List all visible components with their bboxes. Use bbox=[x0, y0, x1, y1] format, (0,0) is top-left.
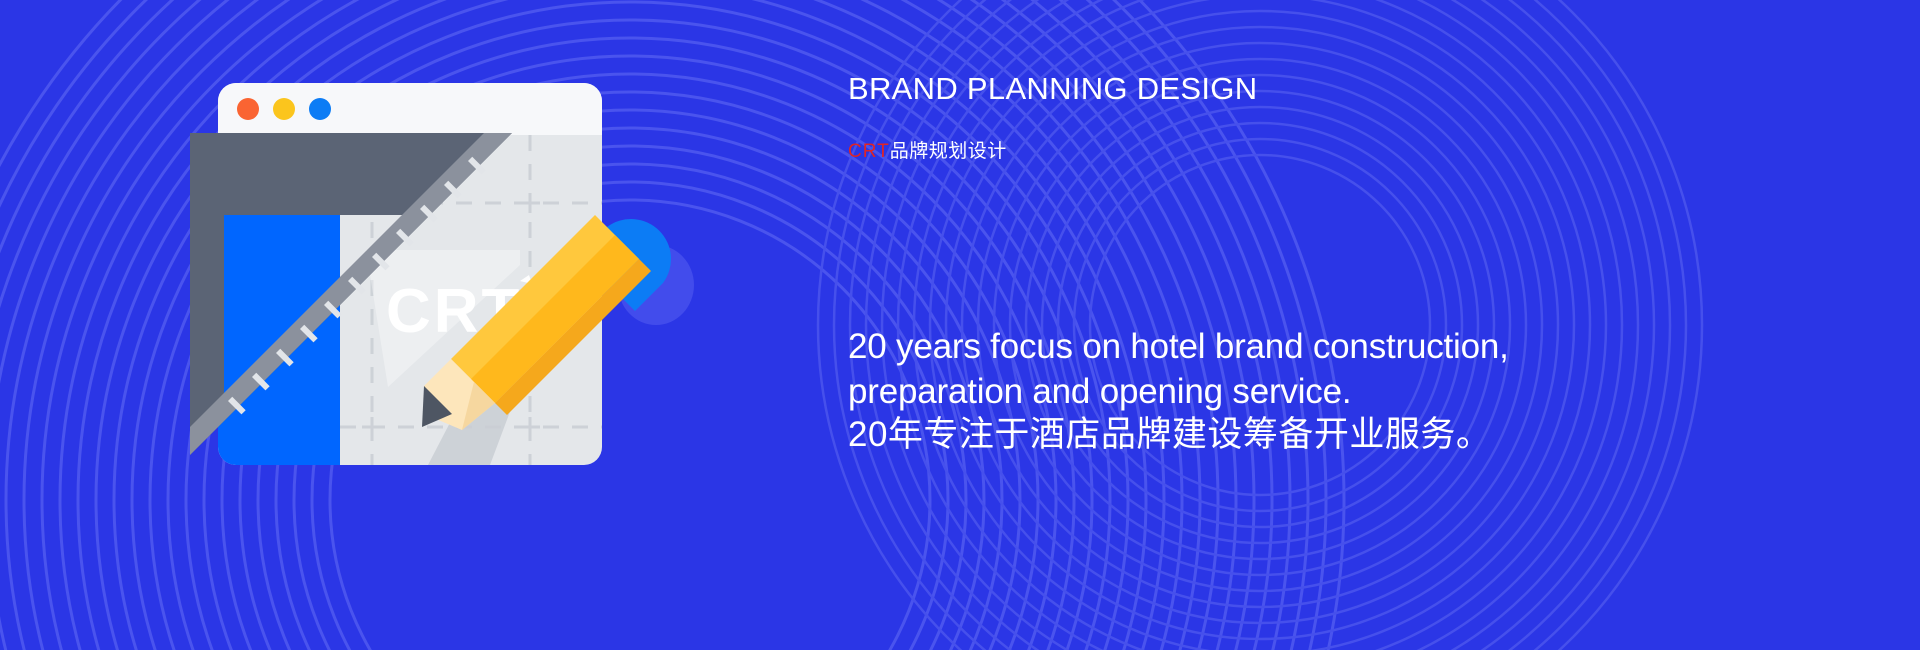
brand-design-illustration: CRT bbox=[190, 75, 690, 565]
subheading: CRT品牌规划设计 bbox=[848, 140, 1007, 165]
copy-block: BRAND PLANNING DESIGN CRT品牌规划设计 20 years… bbox=[848, 0, 1848, 650]
page-title: BRAND PLANNING DESIGN bbox=[848, 72, 1368, 105]
minimize-dot bbox=[273, 98, 295, 120]
tagline-english: 20 years focus on hotel brand constructi… bbox=[848, 325, 1608, 415]
subheading-cn: 品牌规划设计 bbox=[890, 141, 1007, 162]
subheading-brand: CRT bbox=[848, 141, 890, 162]
hero-banner: CRT bbox=[0, 0, 1920, 650]
tagline-chinese: 20年专注于酒店品牌建设筹备开业服务。 bbox=[848, 412, 1491, 458]
maximize-dot bbox=[309, 98, 331, 120]
close-dot bbox=[237, 98, 259, 120]
